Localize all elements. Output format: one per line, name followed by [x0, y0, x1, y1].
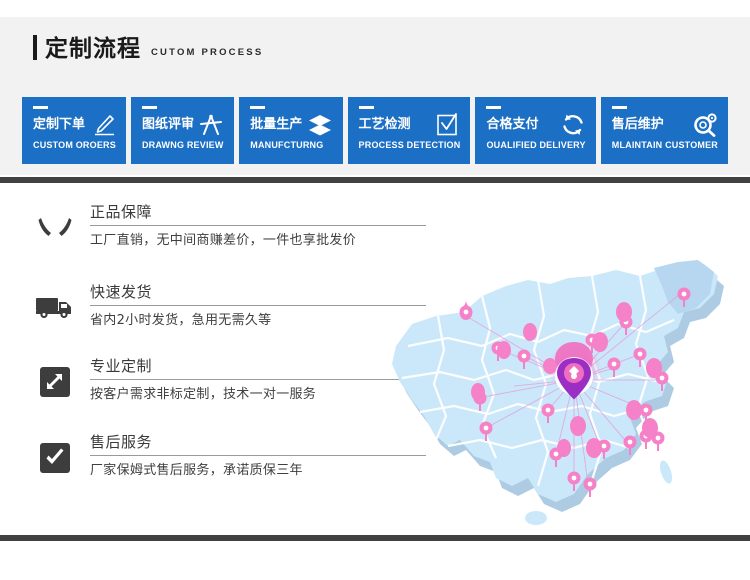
- process-card-process-detection[interactable]: 工艺检测 PROCESS DETECTION: [348, 97, 471, 164]
- feature-body: 专业定制 按客户需求非标定制，技术一对一服务: [90, 358, 426, 403]
- feature-item-after-sales: 售后服务 厂家保姆式售后服务，承诺质保三年: [28, 434, 408, 496]
- feature-desc: 省内2小时发货，急用无需久等: [90, 313, 426, 329]
- feature-desc: 工厂直销，无中间商赚差价，一件也享批发价: [90, 233, 426, 249]
- card-title-cn: 批量生产: [250, 118, 302, 131]
- card-title-en: MANUFCTURNG: [250, 141, 332, 150]
- gear-search-icon: [692, 113, 718, 137]
- feature-title: 专业定制: [90, 358, 426, 380]
- truck-icon: [32, 288, 78, 328]
- compass-icon: [198, 113, 224, 137]
- process-header-band: 定制流程 CUTOM PROCESS 定制下单 CUSTOM OROERS: [0, 17, 750, 175]
- feature-desc: 按客户需求非标定制，技术一对一服务: [90, 387, 426, 403]
- china-map-svg: [378, 250, 750, 535]
- feature-list: 正品保障 工厂直销，无中间商赚差价，一件也享批发价 快速发货: [0, 196, 420, 526]
- card-title-row: 售后维护: [612, 114, 718, 135]
- china-coverage-map: [378, 250, 750, 535]
- checkbox-icon: [434, 113, 460, 137]
- card-title-en: OUALIFIED DELIVERY: [486, 141, 585, 150]
- pencil-icon: [90, 113, 116, 137]
- card-title-en: MLAINTAIN CUSTOMER: [612, 141, 718, 150]
- card-title-cn: 合格支付: [486, 118, 538, 131]
- card-title-cn: 售后维护: [612, 118, 664, 131]
- layers-icon: [307, 113, 333, 137]
- feature-item-shipping: 快速发货 省内2小时发货，急用无需久等: [28, 284, 408, 346]
- process-card-drawing-review[interactable]: 图纸评审 DRAWNG REVIEW: [131, 97, 234, 164]
- top-divider-bar: [0, 177, 750, 183]
- resize-arrow-icon: [32, 362, 78, 402]
- bottom-divider-bar: [0, 535, 750, 541]
- card-title-row: 定制下单: [33, 114, 116, 135]
- feature-item-quality: 正品保障 工厂直销，无中间商赚差价，一件也享批发价: [28, 204, 408, 266]
- page-root: 定制流程 CUTOM PROCESS 定制下单 CUSTOM OROERS: [0, 0, 750, 580]
- feature-body: 正品保障 工厂直销，无中间商赚差价，一件也享批发价: [90, 204, 426, 249]
- title-accent-bar: [33, 35, 37, 60]
- process-card-qualified-delivery[interactable]: 合格支付 OUALIFIED DELIVERY: [475, 97, 595, 164]
- card-title-en: PROCESS DETECTION: [359, 141, 461, 150]
- card-dash: [142, 106, 157, 109]
- feature-desc: 厂家保姆式售后服务，承诺质保三年: [90, 463, 426, 479]
- process-card-custom-orders[interactable]: 定制下单 CUSTOM OROERS: [22, 97, 126, 164]
- card-title-row: 合格支付: [486, 114, 585, 135]
- card-title-en: CUSTOM OROERS: [33, 141, 116, 150]
- card-title-row: 批量生产: [250, 114, 332, 135]
- card-title-cn: 图纸评审: [142, 118, 194, 131]
- feature-title: 正品保障: [90, 204, 426, 226]
- card-dash: [33, 106, 48, 109]
- feature-item-customization: 专业定制 按客户需求非标定制，技术一对一服务: [28, 358, 408, 420]
- card-dash: [359, 106, 374, 109]
- card-title-en: DRAWNG REVIEW: [142, 141, 224, 150]
- process-card-list: 定制下单 CUSTOM OROERS 图纸评审: [22, 97, 728, 164]
- card-title-row: 工艺检测: [359, 114, 461, 135]
- feature-body: 快速发货 省内2小时发货，急用无需久等: [90, 284, 426, 329]
- process-card-manufacturing[interactable]: 批量生产 MANUFCTURNG: [239, 97, 342, 164]
- card-dash: [486, 106, 501, 109]
- check-box-icon: [32, 438, 78, 478]
- section-title-en: CUTOM PROCESS: [151, 47, 263, 58]
- feature-title: 售后服务: [90, 434, 426, 456]
- card-title-cn: 定制下单: [33, 118, 85, 131]
- card-dash: [250, 106, 265, 109]
- refresh-icon: [560, 113, 586, 137]
- card-title-cn: 工艺检测: [359, 118, 411, 131]
- section-title-cn: 定制流程: [45, 38, 141, 61]
- card-dash: [612, 106, 627, 109]
- hands-protect-icon: [32, 208, 78, 248]
- process-card-maintain-customer[interactable]: 售后维护 MLAINTAIN CUSTOMER: [601, 97, 728, 164]
- feature-title: 快速发货: [90, 284, 426, 306]
- section-title: 定制流程 CUTOM PROCESS: [33, 31, 263, 61]
- card-title-row: 图纸评审: [142, 114, 224, 135]
- feature-body: 售后服务 厂家保姆式售后服务，承诺质保三年: [90, 434, 426, 479]
